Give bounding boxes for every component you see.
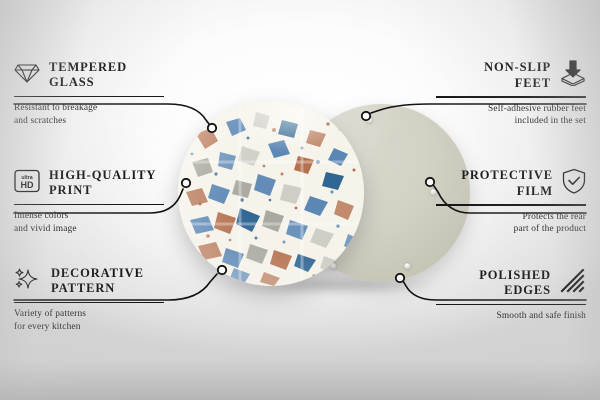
feature-desc-line1: Self-adhesive rubber feet <box>436 103 586 115</box>
feature-description: Variety of patterns for every kitchen <box>14 308 164 333</box>
rubber-foot <box>366 116 373 123</box>
feature-header: TEMPERED GLASS <box>14 60 164 91</box>
ultra-hd-icon: ultra HD <box>14 169 40 198</box>
feature-title: DECORATIVE PATTERN <box>51 266 144 297</box>
feature-header: POLISHED EDGES <box>436 268 586 299</box>
feature-divider <box>436 96 586 98</box>
feature-desc-line1: Protects the rear <box>436 211 586 223</box>
sparkles-icon <box>14 267 42 296</box>
feature-title: HIGH-QUALITY PRINT <box>49 168 156 199</box>
feature-decorative-pattern: DECORATIVE PATTERN Variety of patterns f… <box>14 266 164 333</box>
feature-desc-line2: and scratches <box>14 115 164 127</box>
feature-divider <box>14 302 164 304</box>
feature-title-line1: HIGH-QUALITY <box>49 168 156 183</box>
diamond-icon <box>14 62 40 89</box>
feature-title-line1: PROTECTIVE <box>461 168 553 183</box>
arrow-down-pad-icon <box>560 60 586 91</box>
feature-desc-line2: included in the set <box>436 115 586 127</box>
svg-text:HD: HD <box>21 180 34 190</box>
feature-divider <box>436 204 586 206</box>
terrazzo-pattern <box>178 100 364 286</box>
infographic-canvas: TEMPERED GLASS Resistant to breakage and… <box>0 0 600 400</box>
feature-description: Self-adhesive rubber feet included in th… <box>436 103 586 128</box>
feature-title-line2: FEET <box>484 76 551 91</box>
feature-desc-line2: for every kitchen <box>14 321 164 333</box>
feature-description: Resistant to breakage and scratches <box>14 102 164 127</box>
feature-title-line1: DECORATIVE <box>51 266 144 281</box>
feature-desc-line2: and vivid image <box>14 223 164 235</box>
diagonal-lines-icon <box>560 269 586 298</box>
feature-title: NON-SLIP FEET <box>484 60 551 91</box>
feature-title-line1: POLISHED <box>479 268 551 283</box>
feature-title-line2: PRINT <box>49 183 156 198</box>
board-front-disc <box>178 100 364 286</box>
feature-title-line1: TEMPERED <box>49 60 127 75</box>
feature-description: Intense colors and vivid image <box>14 210 164 235</box>
feature-desc-line1: Intense colors <box>14 210 164 222</box>
feature-title-line1: NON-SLIP <box>484 60 551 75</box>
feature-tempered-glass: TEMPERED GLASS Resistant to breakage and… <box>14 60 164 127</box>
feature-divider <box>14 204 164 206</box>
feature-divider <box>436 304 586 306</box>
feature-title-line2: PATTERN <box>51 281 144 296</box>
feature-title: PROTECTIVE FILM <box>461 168 553 199</box>
feature-title-line2: FILM <box>461 184 553 199</box>
feature-divider <box>14 96 164 98</box>
feature-non-slip-feet: NON-SLIP FEET Self-adhesive rubber feet … <box>436 60 586 127</box>
feature-title: POLISHED EDGES <box>479 268 551 299</box>
feature-high-quality-print: ultra HD HIGH-QUALITY PRINT Intense colo… <box>14 168 164 235</box>
feature-header: NON-SLIP FEET <box>436 60 586 91</box>
feature-header: ultra HD HIGH-QUALITY PRINT <box>14 168 164 199</box>
shield-check-icon <box>562 168 586 199</box>
feature-desc-line1: Resistant to breakage <box>14 102 164 114</box>
feature-polished-edges: POLISHED EDGES Smooth and safe finish <box>436 268 586 323</box>
feature-title: TEMPERED GLASS <box>49 60 127 91</box>
feature-protective-film: PROTECTIVE FILM Protects the rear part o… <box>436 168 586 235</box>
feature-description: Smooth and safe finish <box>436 310 586 322</box>
rubber-foot <box>404 262 411 269</box>
feature-header: PROTECTIVE FILM <box>436 168 586 199</box>
feature-desc-line1: Variety of patterns <box>14 308 164 320</box>
feature-header: DECORATIVE PATTERN <box>14 266 164 297</box>
feature-description: Protects the rear part of the product <box>436 211 586 236</box>
feature-title-line2: EDGES <box>479 283 551 298</box>
feature-desc-line1: Smooth and safe finish <box>436 310 586 322</box>
feature-desc-line2: part of the product <box>436 223 586 235</box>
feature-title-line2: GLASS <box>49 75 127 90</box>
